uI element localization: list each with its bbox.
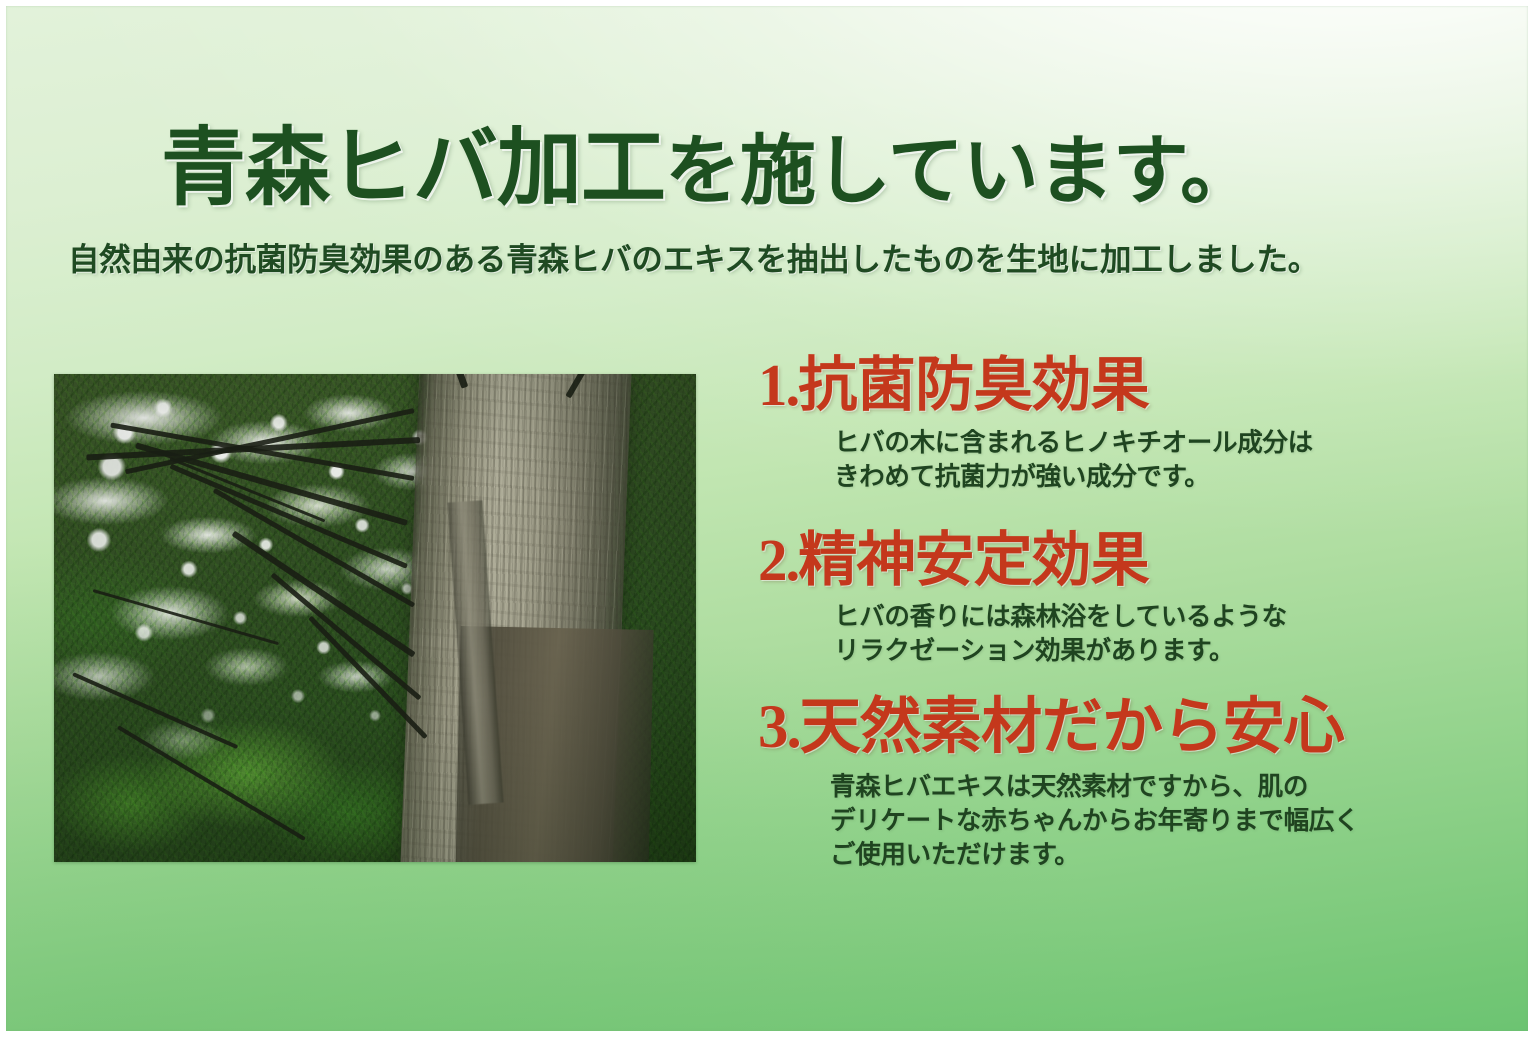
page-title-main: 青森ヒバ加工 <box>161 122 665 216</box>
benefit-1-heading: 1.抗菌防臭効果 <box>758 354 1518 418</box>
page-title: 青森ヒバ加工を施しています。 <box>161 99 1255 222</box>
benefit-2-heading-text: 精神安定効果 <box>798 527 1149 593</box>
benefit-1-heading-text: 抗菌防臭効果 <box>798 352 1149 418</box>
benefit-1-body: ヒバの木に含まれるヒノキチオール成分は きわめて抗菌力が強い成分です。 <box>834 427 1518 495</box>
page-title-tail: を施しています。 <box>665 130 1255 214</box>
benefit-item-1: 1.抗菌防臭効果 ヒバの木に含まれるヒノキチオール成分は きわめて抗菌力が強い成… <box>758 354 1518 495</box>
benefit-3-body-line: 青森ヒバエキスは天然素材ですから、肌の <box>830 771 1518 805</box>
benefit-1-number: 1. <box>758 352 798 418</box>
benefit-1-body-line: きわめて抗菌力が強い成分です。 <box>834 461 1518 495</box>
benefits-list: 1.抗菌防臭効果 ヒバの木に含まれるヒノキチオール成分は きわめて抗菌力が強い成… <box>758 354 1518 873</box>
poster-root: 青森ヒバ加工を施しています。 自然由来の抗菌防臭効果のある青森ヒバのエキスを抽出… <box>0 0 1536 1037</box>
benefit-3-body-line: ご使用いただけます。 <box>830 839 1518 873</box>
hiba-forest-photo <box>54 374 696 862</box>
benefit-1-body-line: ヒバの木に含まれるヒノキチオール成分は <box>834 427 1518 461</box>
benefit-item-2: 2.精神安定効果 ヒバの香りには森林浴をしているような リラクゼーション効果があ… <box>758 529 1518 670</box>
benefit-2-number: 2. <box>758 527 798 593</box>
page-subtitle: 自然由来の抗菌防臭効果のある青森ヒバのエキスを抽出したものを生地に加工しました。 <box>68 234 1319 280</box>
benefit-2-body-line: リラクゼーション効果があります。 <box>834 635 1518 669</box>
photo-canvas <box>54 374 696 862</box>
benefit-3-body-line: デリケートな赤ちゃんからお年寄りまで幅広く <box>830 805 1518 839</box>
poster-panel: 青森ヒバ加工を施しています。 自然由来の抗菌防臭効果のある青森ヒバのエキスを抽出… <box>6 6 1528 1031</box>
benefit-2-heading: 2.精神安定効果 <box>758 529 1518 593</box>
benefit-3-body: 青森ヒバエキスは天然素材ですから、肌の デリケートな赤ちゃんからお年寄りまで幅広… <box>830 771 1518 873</box>
benefit-3-number: 3. <box>758 694 800 761</box>
benefit-3-heading: 3.天然素材だから安心 <box>758 695 1518 761</box>
benefit-2-body-line: ヒバの香りには森林浴をしているような <box>834 601 1518 635</box>
benefit-3-heading-text: 天然素材だから安心 <box>800 694 1345 761</box>
benefit-2-body: ヒバの香りには森林浴をしているような リラクゼーション効果があります。 <box>834 601 1518 669</box>
benefit-item-3: 3.天然素材だから安心 青森ヒバエキスは天然素材ですから、肌の デリケートな赤ち… <box>758 695 1518 873</box>
